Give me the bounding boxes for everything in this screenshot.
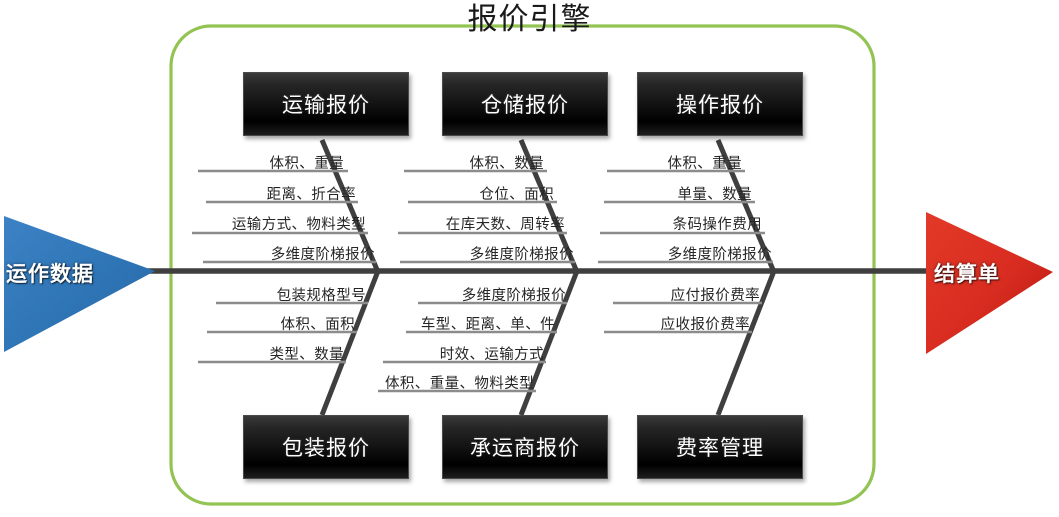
cause-label: 多维度阶梯报价 bbox=[462, 284, 566, 305]
fishbone-diagram: 报价引擎 运作数据 结算单 运输报价 仓储报价 操作报价 包装报价 承运商报价 … bbox=[0, 0, 1059, 517]
input-arrow-label: 运作数据 bbox=[6, 258, 94, 288]
output-arrow-label: 结算单 bbox=[934, 258, 1000, 288]
category-node-packaging[interactable]: 包装报价 bbox=[243, 415, 409, 479]
cause-label: 多维度阶梯报价 bbox=[271, 243, 375, 264]
cause-label: 应付报价费率 bbox=[671, 284, 760, 305]
cause-label: 运输方式、物料类型 bbox=[232, 213, 366, 234]
category-node-label: 运输报价 bbox=[282, 89, 370, 119]
cause-label: 条码操作费用 bbox=[673, 213, 762, 234]
cause-label: 体积、数量 bbox=[470, 152, 545, 173]
cause-label: 距离、折合率 bbox=[267, 183, 356, 204]
cause-label: 车型、距离、单、件 bbox=[421, 313, 555, 334]
cause-label: 体积、重量、物料类型 bbox=[385, 372, 534, 393]
category-node-warehousing[interactable]: 仓储报价 bbox=[442, 72, 608, 136]
category-node-label: 操作报价 bbox=[676, 89, 764, 119]
cause-label: 包装规格型号 bbox=[277, 284, 366, 305]
cause-label: 仓位、面积 bbox=[480, 183, 555, 204]
cause-label: 应收报价费率 bbox=[661, 313, 750, 334]
category-node-carrier[interactable]: 承运商报价 bbox=[442, 415, 608, 479]
category-node-operation[interactable]: 操作报价 bbox=[637, 72, 803, 136]
cause-label: 时效、运输方式 bbox=[440, 343, 544, 364]
category-node-label: 承运商报价 bbox=[470, 432, 580, 462]
category-node-transport[interactable]: 运输报价 bbox=[243, 72, 409, 136]
cause-label: 体积、重量 bbox=[270, 152, 345, 173]
cause-label: 单量、数量 bbox=[678, 183, 753, 204]
category-node-label: 包装报价 bbox=[282, 432, 370, 462]
cause-label: 体积、重量 bbox=[668, 152, 743, 173]
category-node-label: 仓储报价 bbox=[481, 89, 569, 119]
cause-label: 体积、面积 bbox=[281, 313, 356, 334]
cause-label: 多维度阶梯报价 bbox=[470, 243, 574, 264]
page-title: 报价引擎 bbox=[0, 0, 1059, 38]
cause-label: 在库天数、周转率 bbox=[446, 213, 565, 234]
category-node-label: 费率管理 bbox=[676, 432, 764, 462]
cause-label: 多维度阶梯报价 bbox=[668, 243, 772, 264]
category-node-rate[interactable]: 费率管理 bbox=[637, 415, 803, 479]
cause-label: 类型、数量 bbox=[270, 343, 345, 364]
